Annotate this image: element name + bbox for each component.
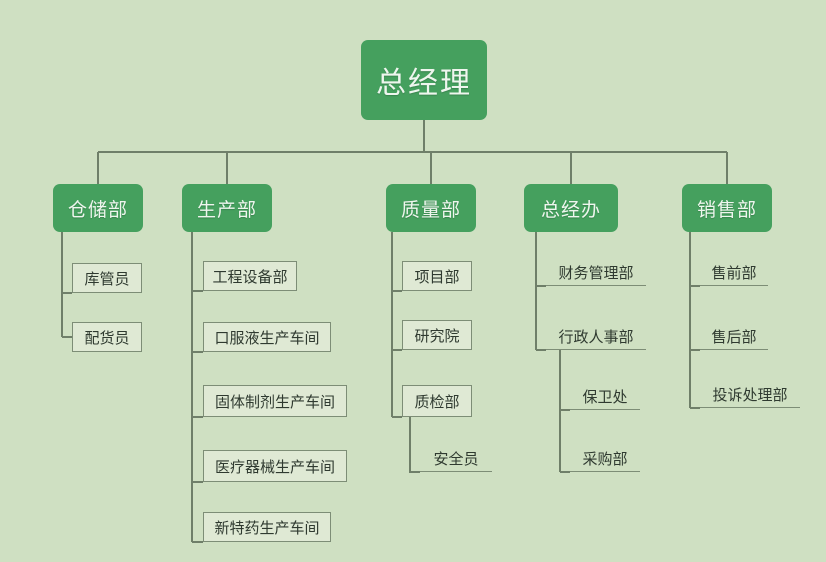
node-dept-quality[interactable]: 质量部 [386, 184, 476, 232]
node-sales-aftersale[interactable]: 售后部 [700, 322, 768, 350]
org-chart: 总经理 仓储部 生产部 质量部 总经办 销售部 库管员 配货员 工程设备部 口服… [0, 0, 826, 562]
node-production-solid-prep[interactable]: 固体制剂生产车间 [203, 385, 347, 417]
node-quality-safety-officer[interactable]: 安全员 [420, 444, 492, 472]
node-sales-complaint[interactable]: 投诉处理部 [700, 380, 800, 408]
node-dept-sales[interactable]: 销售部 [682, 184, 772, 232]
node-general-manager[interactable]: 总经理 [361, 40, 487, 120]
node-sales-presale[interactable]: 售前部 [700, 258, 768, 286]
node-dept-gm-office[interactable]: 总经办 [524, 184, 618, 232]
node-production-new-drug[interactable]: 新特药生产车间 [203, 512, 331, 542]
node-warehouse-picker[interactable]: 配货员 [72, 322, 142, 352]
connector-qc-to-safety [410, 417, 420, 472]
node-production-medical-device[interactable]: 医疗器械生产车间 [203, 450, 347, 482]
node-production-oral-liquid[interactable]: 口服液生产车间 [203, 322, 331, 352]
node-quality-qc[interactable]: 质检部 [402, 385, 472, 417]
node-production-engineering[interactable]: 工程设备部 [203, 261, 297, 291]
node-warehouse-keeper[interactable]: 库管员 [72, 263, 142, 293]
node-gm-hr-admin[interactable]: 行政人事部 [546, 322, 646, 350]
node-quality-project[interactable]: 项目部 [402, 261, 472, 291]
node-gm-purchasing[interactable]: 采购部 [570, 444, 640, 472]
node-dept-production[interactable]: 生产部 [182, 184, 272, 232]
node-dept-warehouse[interactable]: 仓储部 [53, 184, 143, 232]
node-gm-security[interactable]: 保卫处 [570, 382, 640, 410]
node-quality-research[interactable]: 研究院 [402, 320, 472, 350]
node-gm-finance[interactable]: 财务管理部 [546, 258, 646, 286]
